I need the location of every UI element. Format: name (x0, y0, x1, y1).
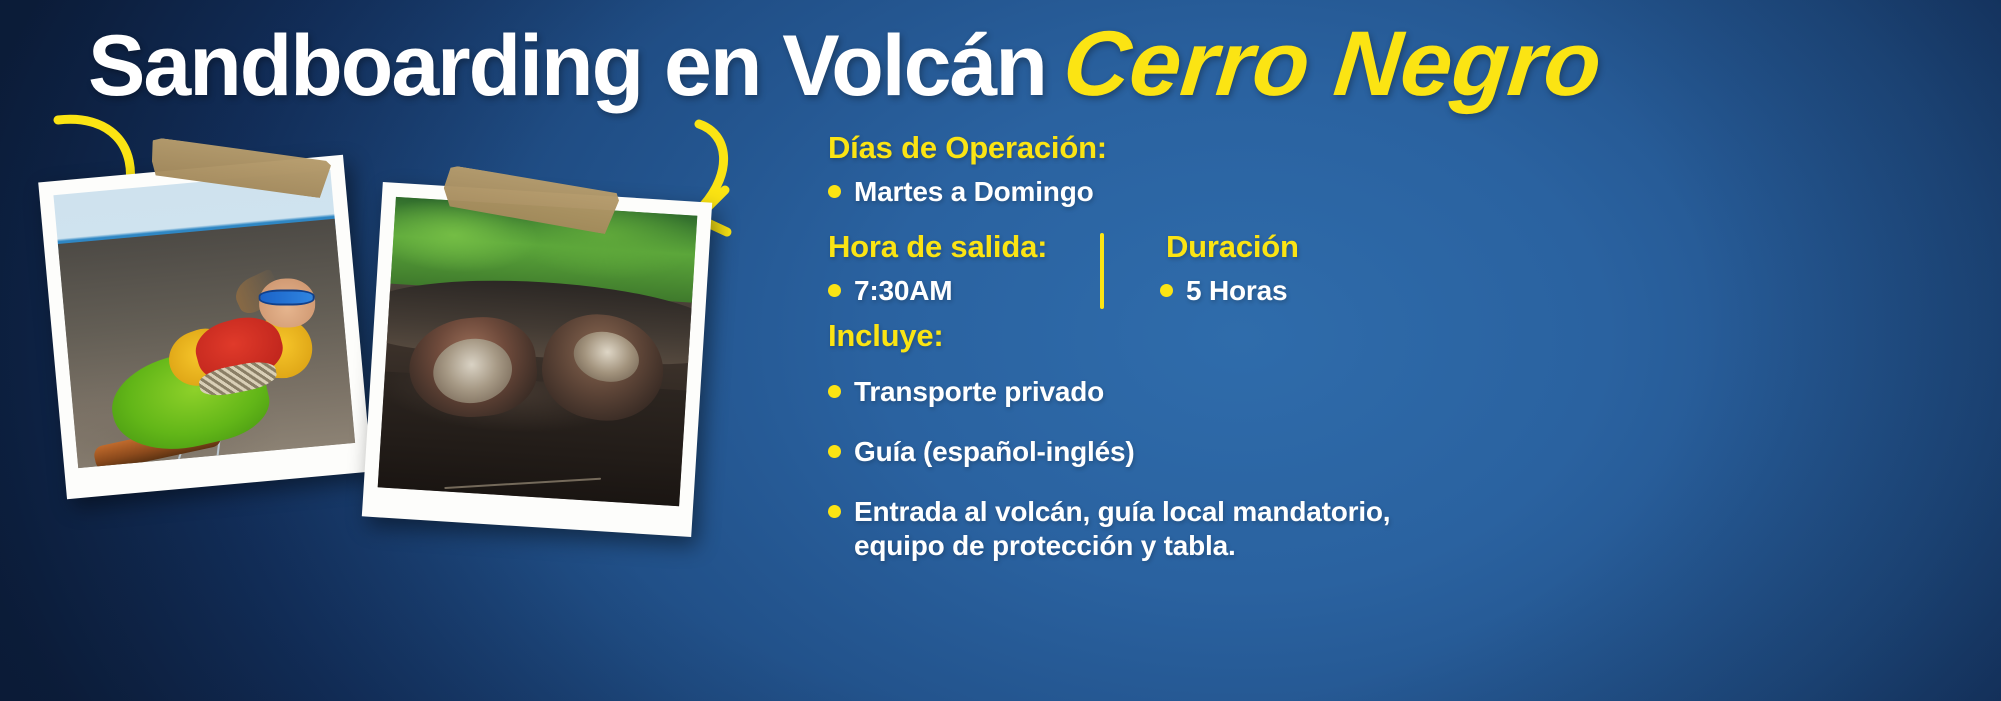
list-item: 5 Horas (1160, 274, 1299, 307)
list-item: Guía (español-inglés) (828, 435, 1948, 468)
crater-aerial-photo (378, 197, 698, 506)
bullet-dot-icon (828, 284, 841, 297)
title-main-text: Sandboarding en Volcán (88, 18, 1046, 114)
departure-heading: Hora de salida: (828, 229, 1100, 265)
departure-column: Hora de salida: 7:30AM (828, 229, 1100, 318)
departure-value: 7:30AM (854, 274, 952, 307)
duration-heading: Duración (1166, 229, 1299, 265)
includes-heading: Incluye: (828, 318, 1948, 354)
duration-value: 5 Horas (1186, 274, 1287, 307)
page-title: Sandboarding en VolcánCerro Negro (88, 18, 1601, 110)
includes-item-transport: Transporte privado (854, 375, 1104, 408)
includes-item-entry: Entrada al volcán, guía local mandatorio… (854, 495, 1390, 563)
promo-banner: Sandboarding en VolcánCerro Negro (0, 0, 2001, 701)
bullet-dot-icon (828, 385, 841, 398)
column-divider (1100, 233, 1104, 309)
duration-column: Duración 5 Horas (1160, 229, 1299, 318)
photo-card-sandboarder (38, 155, 372, 499)
title-script-text: Cerro Negro (1059, 18, 1605, 110)
sandboarder-photo (53, 170, 355, 468)
list-item: Entrada al volcán, guía local mandatorio… (828, 495, 1948, 563)
goggles-icon (258, 290, 314, 307)
days-value: Martes a Domingo (854, 175, 1094, 208)
bullet-dot-icon (828, 445, 841, 458)
bullet-dot-icon (828, 505, 841, 518)
list-item: 7:30AM (828, 274, 1100, 307)
bullet-dot-icon (828, 185, 841, 198)
photo-card-crater (362, 182, 712, 537)
list-item: Martes a Domingo (828, 175, 1948, 208)
includes-item-guide: Guía (español-inglés) (854, 435, 1135, 468)
list-item: Transporte privado (828, 375, 1948, 408)
bullet-dot-icon (1160, 284, 1173, 297)
days-heading: Días de Operación: (828, 130, 1948, 166)
tour-info-panel: Días de Operación: Martes a Domingo Hora… (828, 130, 1948, 574)
departure-duration-row: Hora de salida: 7:30AM Duración 5 Horas (828, 229, 1948, 318)
